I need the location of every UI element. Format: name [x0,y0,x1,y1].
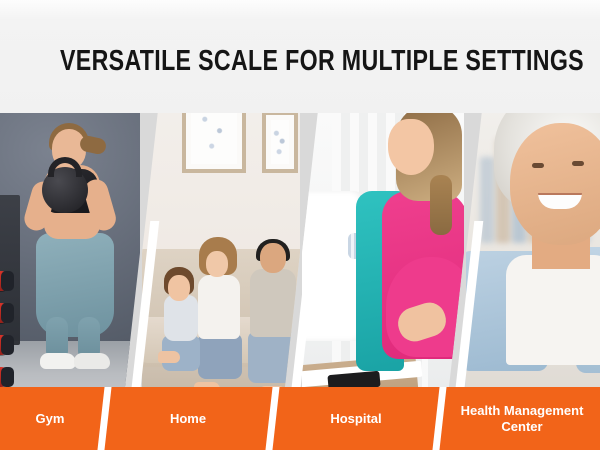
gym-photo [0,113,140,388]
home-photo [142,113,300,388]
panel-label-health-management-center[interactable]: Health Management Center [444,387,600,450]
panel-label-hospital[interactable]: Hospital [276,387,436,450]
header: VERSATILE SCALE FOR MULTIPLE SETTINGS [0,0,600,113]
label-bar: Gym Home Hospital Health Management Cent… [0,387,600,450]
panel-label-home[interactable]: Home [108,387,268,450]
page-title: VERSATILE SCALE FOR MULTIPLE SETTINGS [60,45,540,77]
promo-banner: VERSATILE SCALE FOR MULTIPLE SETTINGS [0,0,600,450]
panel-label-gym[interactable]: Gym [0,387,100,450]
panel-strip [0,113,600,388]
hospital-photo [302,113,464,388]
health-center-photo [466,113,600,388]
